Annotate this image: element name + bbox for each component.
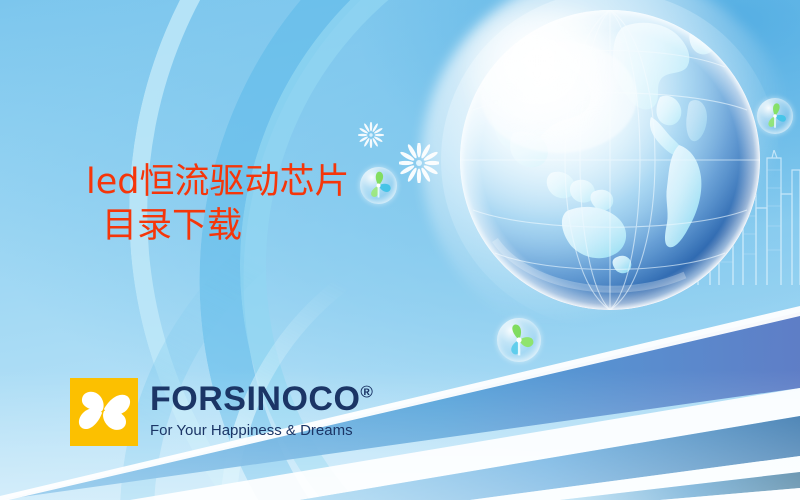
flower-petals-icon bbox=[70, 378, 138, 446]
logo-wordmark: FORSINOCO® bbox=[150, 382, 373, 416]
headline-text: led恒流驱动芯片 目录下载 bbox=[86, 160, 446, 248]
registered-trademark-icon: ® bbox=[360, 383, 373, 402]
headline-line-2: 目录下载 bbox=[86, 204, 446, 248]
logo-text-block: FORSINOCO® For Your Happiness & Dreams bbox=[150, 378, 373, 438]
company-logo: FORSINOCO® For Your Happiness & Dreams bbox=[70, 378, 373, 446]
logo-wordmark-text: FORSINOCO bbox=[150, 380, 360, 418]
windmill-icon bbox=[497, 318, 541, 362]
logo-tagline: For Your Happiness & Dreams bbox=[150, 423, 373, 438]
four-petal-flower-icon bbox=[70, 378, 138, 446]
sparkle-star-small-icon bbox=[358, 122, 384, 148]
bubble-windmill-lower-center bbox=[497, 318, 541, 362]
earth-globe bbox=[455, 5, 765, 315]
bubble-windmill-top-right bbox=[757, 98, 793, 134]
globe-halo bbox=[441, 0, 779, 329]
windmill-icon bbox=[757, 98, 793, 134]
headline-line-1: led恒流驱动芯片 bbox=[86, 160, 446, 204]
banner-image: led恒流驱动芯片 目录下载 FORSINOCO® For Your Happi… bbox=[0, 0, 800, 500]
